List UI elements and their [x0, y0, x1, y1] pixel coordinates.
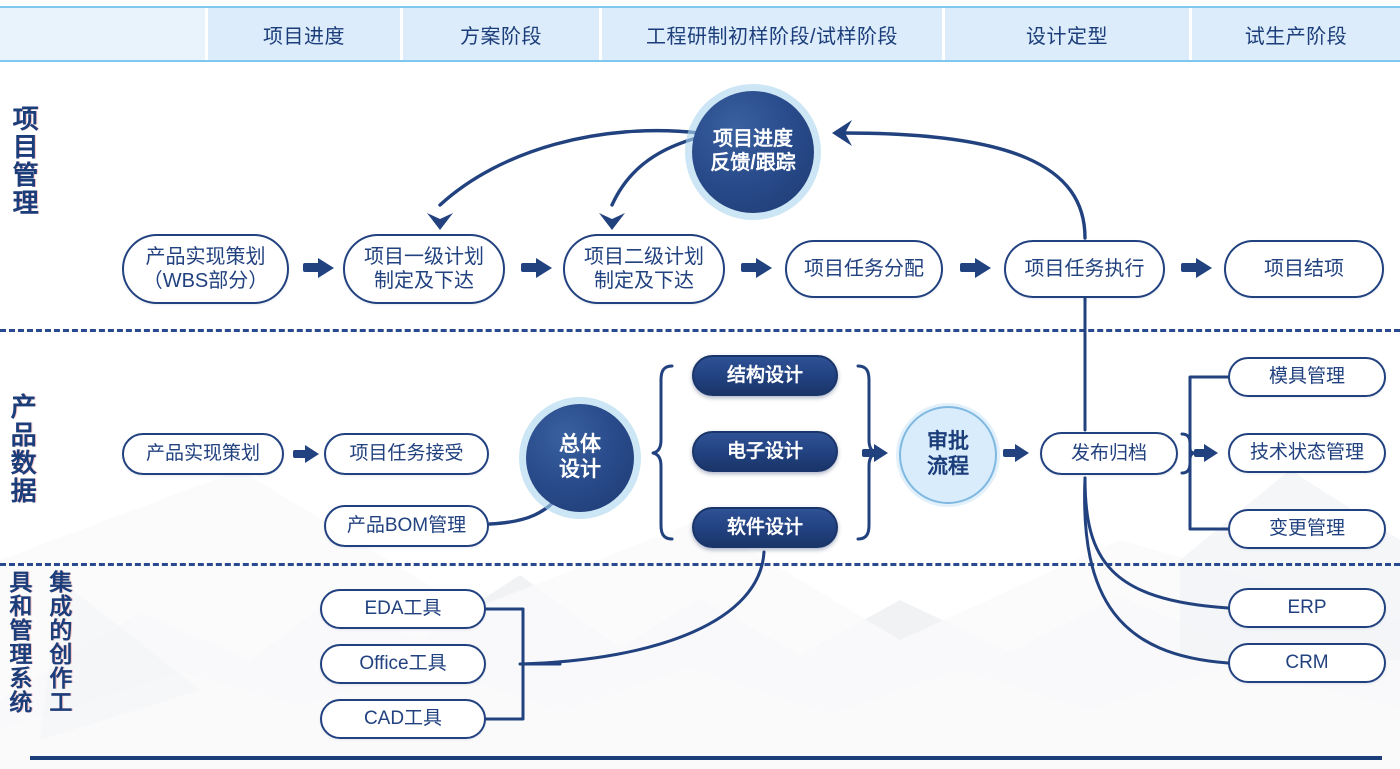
row-divider-2: [0, 563, 1400, 566]
node-project-closure[interactable]: 项目结项: [1224, 240, 1384, 298]
arrow-assign-execute: [960, 258, 991, 278]
wire-circle-to-plan2: [612, 137, 700, 205]
bracket-right-group: [1190, 377, 1228, 529]
arrow-approval-release: [1003, 444, 1029, 462]
node-task-execution[interactable]: 项目任务执行: [1004, 240, 1165, 298]
wire-circle-to-plan1: [440, 131, 700, 205]
node-pd-product-realization[interactable]: 产品实现策划: [122, 433, 284, 475]
arrow-wbs-plan1: [303, 258, 334, 278]
row-label-integrated-tools-right: 集成的创作工: [46, 570, 71, 745]
arrow-brace-to-right-group: [1194, 444, 1218, 462]
node-eda-tool[interactable]: EDA工具: [320, 589, 486, 629]
node-product-bom[interactable]: 产品BOM管理: [324, 505, 489, 547]
phase-cell-blank: [0, 8, 208, 60]
phase-cell-progress[interactable]: 项目进度: [208, 8, 403, 60]
arrow-plan1-plan2: [521, 258, 552, 278]
node-task-assignment[interactable]: 项目任务分配: [785, 240, 943, 298]
phase-label: 试生产阶段: [1245, 20, 1348, 49]
node-change-management[interactable]: 变更管理: [1228, 509, 1386, 549]
wire-release-to-crm: [1085, 478, 1228, 663]
brace-left-designs: [653, 366, 672, 539]
node-crm-system[interactable]: CRM: [1228, 643, 1386, 683]
node-task-acceptance[interactable]: 项目任务接受: [324, 433, 489, 475]
node-erp-system[interactable]: ERP: [1228, 588, 1386, 628]
phase-cell-engineering[interactable]: 工程研制初样阶段/试样阶段: [602, 8, 945, 60]
arrow-pdplan-accept: [293, 445, 319, 463]
phase-label: 项目进度: [263, 20, 345, 49]
node-tech-state-management[interactable]: 技术状态管理: [1228, 433, 1386, 473]
diagram-canvas: 项目进度 方案阶段 工程研制初样阶段/试样阶段 设计定型 试生产阶段 项目管理 …: [0, 0, 1400, 769]
wire-software-to-tools: [520, 552, 764, 664]
brace-release-right: [1182, 434, 1195, 473]
circle-approval-process[interactable]: 审批 流程: [899, 406, 997, 504]
phase-header-row: 项目进度 方案阶段 工程研制初样阶段/试样阶段 设计定型 试生产阶段: [0, 6, 1400, 62]
circle-overall-design[interactable]: 总体 设计: [526, 404, 634, 512]
row-label-integrated-tools-left: 具和管理系统: [6, 570, 31, 745]
arrow-plan2-assign: [741, 258, 772, 278]
row-divider-1: [0, 329, 1400, 332]
node-software-design[interactable]: 软件设计: [692, 507, 838, 548]
node-electronic-design[interactable]: 电子设计: [692, 431, 838, 472]
phase-cell-scheme[interactable]: 方案阶段: [403, 8, 602, 60]
wire-release-to-erp: [1085, 478, 1228, 608]
node-release-archive[interactable]: 发布归档: [1040, 432, 1178, 475]
arrow-brace-to-approval: [862, 444, 888, 462]
node-cad-tool[interactable]: CAD工具: [320, 699, 486, 739]
bracket-tools: [486, 609, 523, 719]
arrowhead-circle-left: [832, 120, 852, 146]
phase-cell-design-finalize[interactable]: 设计定型: [945, 8, 1192, 60]
phase-cell-trial-production[interactable]: 试生产阶段: [1192, 8, 1400, 60]
arrowhead-plan2: [599, 213, 625, 230]
node-level2-plan[interactable]: 项目二级计划 制定及下达: [563, 234, 725, 304]
phase-label: 方案阶段: [460, 20, 542, 49]
row-label-project-management: 项目管理: [10, 105, 38, 245]
node-product-realization-wbs[interactable]: 产品实现策划 （WBS部分）: [122, 234, 289, 304]
node-office-tool[interactable]: Office工具: [320, 644, 486, 684]
phase-label: 工程研制初样阶段/试样阶段: [646, 20, 898, 49]
circle-progress-feedback[interactable]: 项目进度 反馈/跟踪: [692, 91, 814, 213]
wire-execute-to-circle: [845, 133, 1085, 238]
node-structural-design[interactable]: 结构设计: [692, 355, 838, 396]
arrow-execute-close: [1181, 258, 1212, 278]
brace-right-designs: [858, 366, 877, 539]
bottom-rule: [30, 756, 1382, 760]
arrowhead-plan1: [427, 213, 453, 230]
node-mold-management[interactable]: 模具管理: [1228, 357, 1386, 397]
row-label-product-data: 产品数据: [8, 393, 36, 513]
phase-label: 设计定型: [1026, 20, 1108, 49]
node-level1-plan[interactable]: 项目一级计划 制定及下达: [343, 234, 505, 304]
